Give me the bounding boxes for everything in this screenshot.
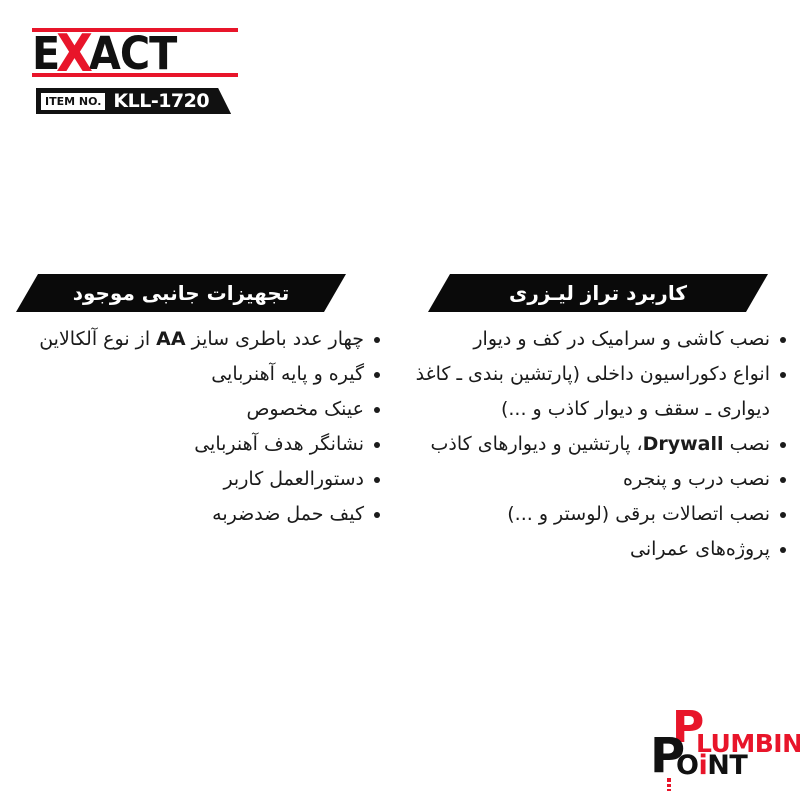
- pp-logo-p-black: P: [650, 732, 685, 780]
- brand-wordmark-x: X: [56, 24, 92, 84]
- water-drop-1: [667, 778, 671, 782]
- list-item: نصب کاشی و سرامیک در کف و دیوار: [400, 322, 788, 357]
- list-item-latin-term: Drywall: [643, 427, 724, 462]
- accessories-list: چهار عدد باطری سایز AA از نوع آلکالاینگی…: [12, 322, 382, 532]
- section-title-applications: کاربرد تراز لیـزری: [509, 274, 687, 312]
- list-item: نصب درب و پنجره: [400, 462, 788, 497]
- list-item-text: از نوع آلکالاین: [39, 328, 156, 350]
- item-number-label: ITEM NO.: [41, 93, 105, 110]
- list-item-latin-term: AA: [156, 322, 185, 357]
- list-item: عینک مخصوص: [12, 392, 382, 427]
- list-item-text: عینک مخصوص: [246, 398, 364, 420]
- pp-logo-nt: NT: [707, 750, 747, 781]
- section-title-accessories: تجهیزات جانبی موجود: [73, 274, 290, 312]
- list-item-text: نصب درب و پنجره: [623, 468, 770, 490]
- brand-wordmark-act: ACT: [89, 27, 176, 80]
- pp-logo-oint: OiNT: [676, 752, 747, 780]
- list-item-text: پروژه‌های عمرانی: [630, 538, 770, 560]
- item-number-value: KLL-1720: [113, 91, 209, 111]
- list-item-text: ، پارتشین و دیوارهای کاذب: [431, 433, 643, 455]
- list-item: پروژه‌های عمرانی: [400, 532, 788, 567]
- list-item: دستورالعمل کاربر: [12, 462, 382, 497]
- list-item-text: دستورالعمل کاربر: [223, 468, 364, 490]
- product-spec-page: EXACT ITEM NO. KLL-1720 کاربرد تراز لیـز…: [0, 0, 800, 800]
- list-item: نصب Drywall، پارتشین و دیوارهای کاذب: [400, 427, 788, 462]
- section-header-applications: کاربرد تراز لیـزری: [428, 274, 768, 312]
- list-item-text: انواع دکوراسیون داخلی (پارتشین بندی ـ کا…: [416, 363, 770, 420]
- pp-logo-i: i: [698, 750, 707, 781]
- list-item: نصب اتصالات برقی (لوستر و ...): [400, 497, 788, 532]
- water-drop-icon: [666, 778, 672, 793]
- list-item-text: نصب: [724, 433, 770, 455]
- list-item: چهار عدد باطری سایز AA از نوع آلکالاین: [12, 322, 382, 357]
- list-item-text: کیف حمل ضدضربه: [212, 503, 364, 525]
- section-header-accessories: تجهیزات جانبی موجود: [16, 274, 346, 312]
- list-item: کیف حمل ضدضربه: [12, 497, 382, 532]
- list-item: انواع دکوراسیون داخلی (پارتشین بندی ـ کا…: [400, 357, 788, 427]
- brand-wordmark-e: E: [32, 27, 59, 80]
- list-item-text: نصب اتصالات برقی (لوستر و ...): [507, 503, 770, 525]
- list-item: نشانگر هدف آهنربایی: [12, 427, 382, 462]
- water-drop-2: [667, 784, 671, 787]
- list-item-text: گیره و پایه آهنربایی: [211, 363, 364, 385]
- item-number-badge: ITEM NO. KLL-1720: [36, 88, 231, 114]
- plumbing-point-logo: P LUMBING P OiNT: [648, 706, 788, 790]
- list-item-text: نشانگر هدف آهنربایی: [194, 433, 364, 455]
- list-item: گیره و پایه آهنربایی: [12, 357, 382, 392]
- brand-wordmark: EXACT: [32, 29, 242, 75]
- water-drop-3: [667, 789, 671, 791]
- exact-brand-logo: EXACT: [32, 26, 242, 78]
- list-item-text: چهار عدد باطری سایز: [186, 328, 364, 350]
- list-item-text: کاشی و سرامیک در کف و دیوار: [473, 328, 723, 350]
- list-item-text: نصب: [724, 328, 770, 350]
- applications-list: نصب کاشی و سرامیک در کف و دیوارانواع دکو…: [400, 322, 788, 567]
